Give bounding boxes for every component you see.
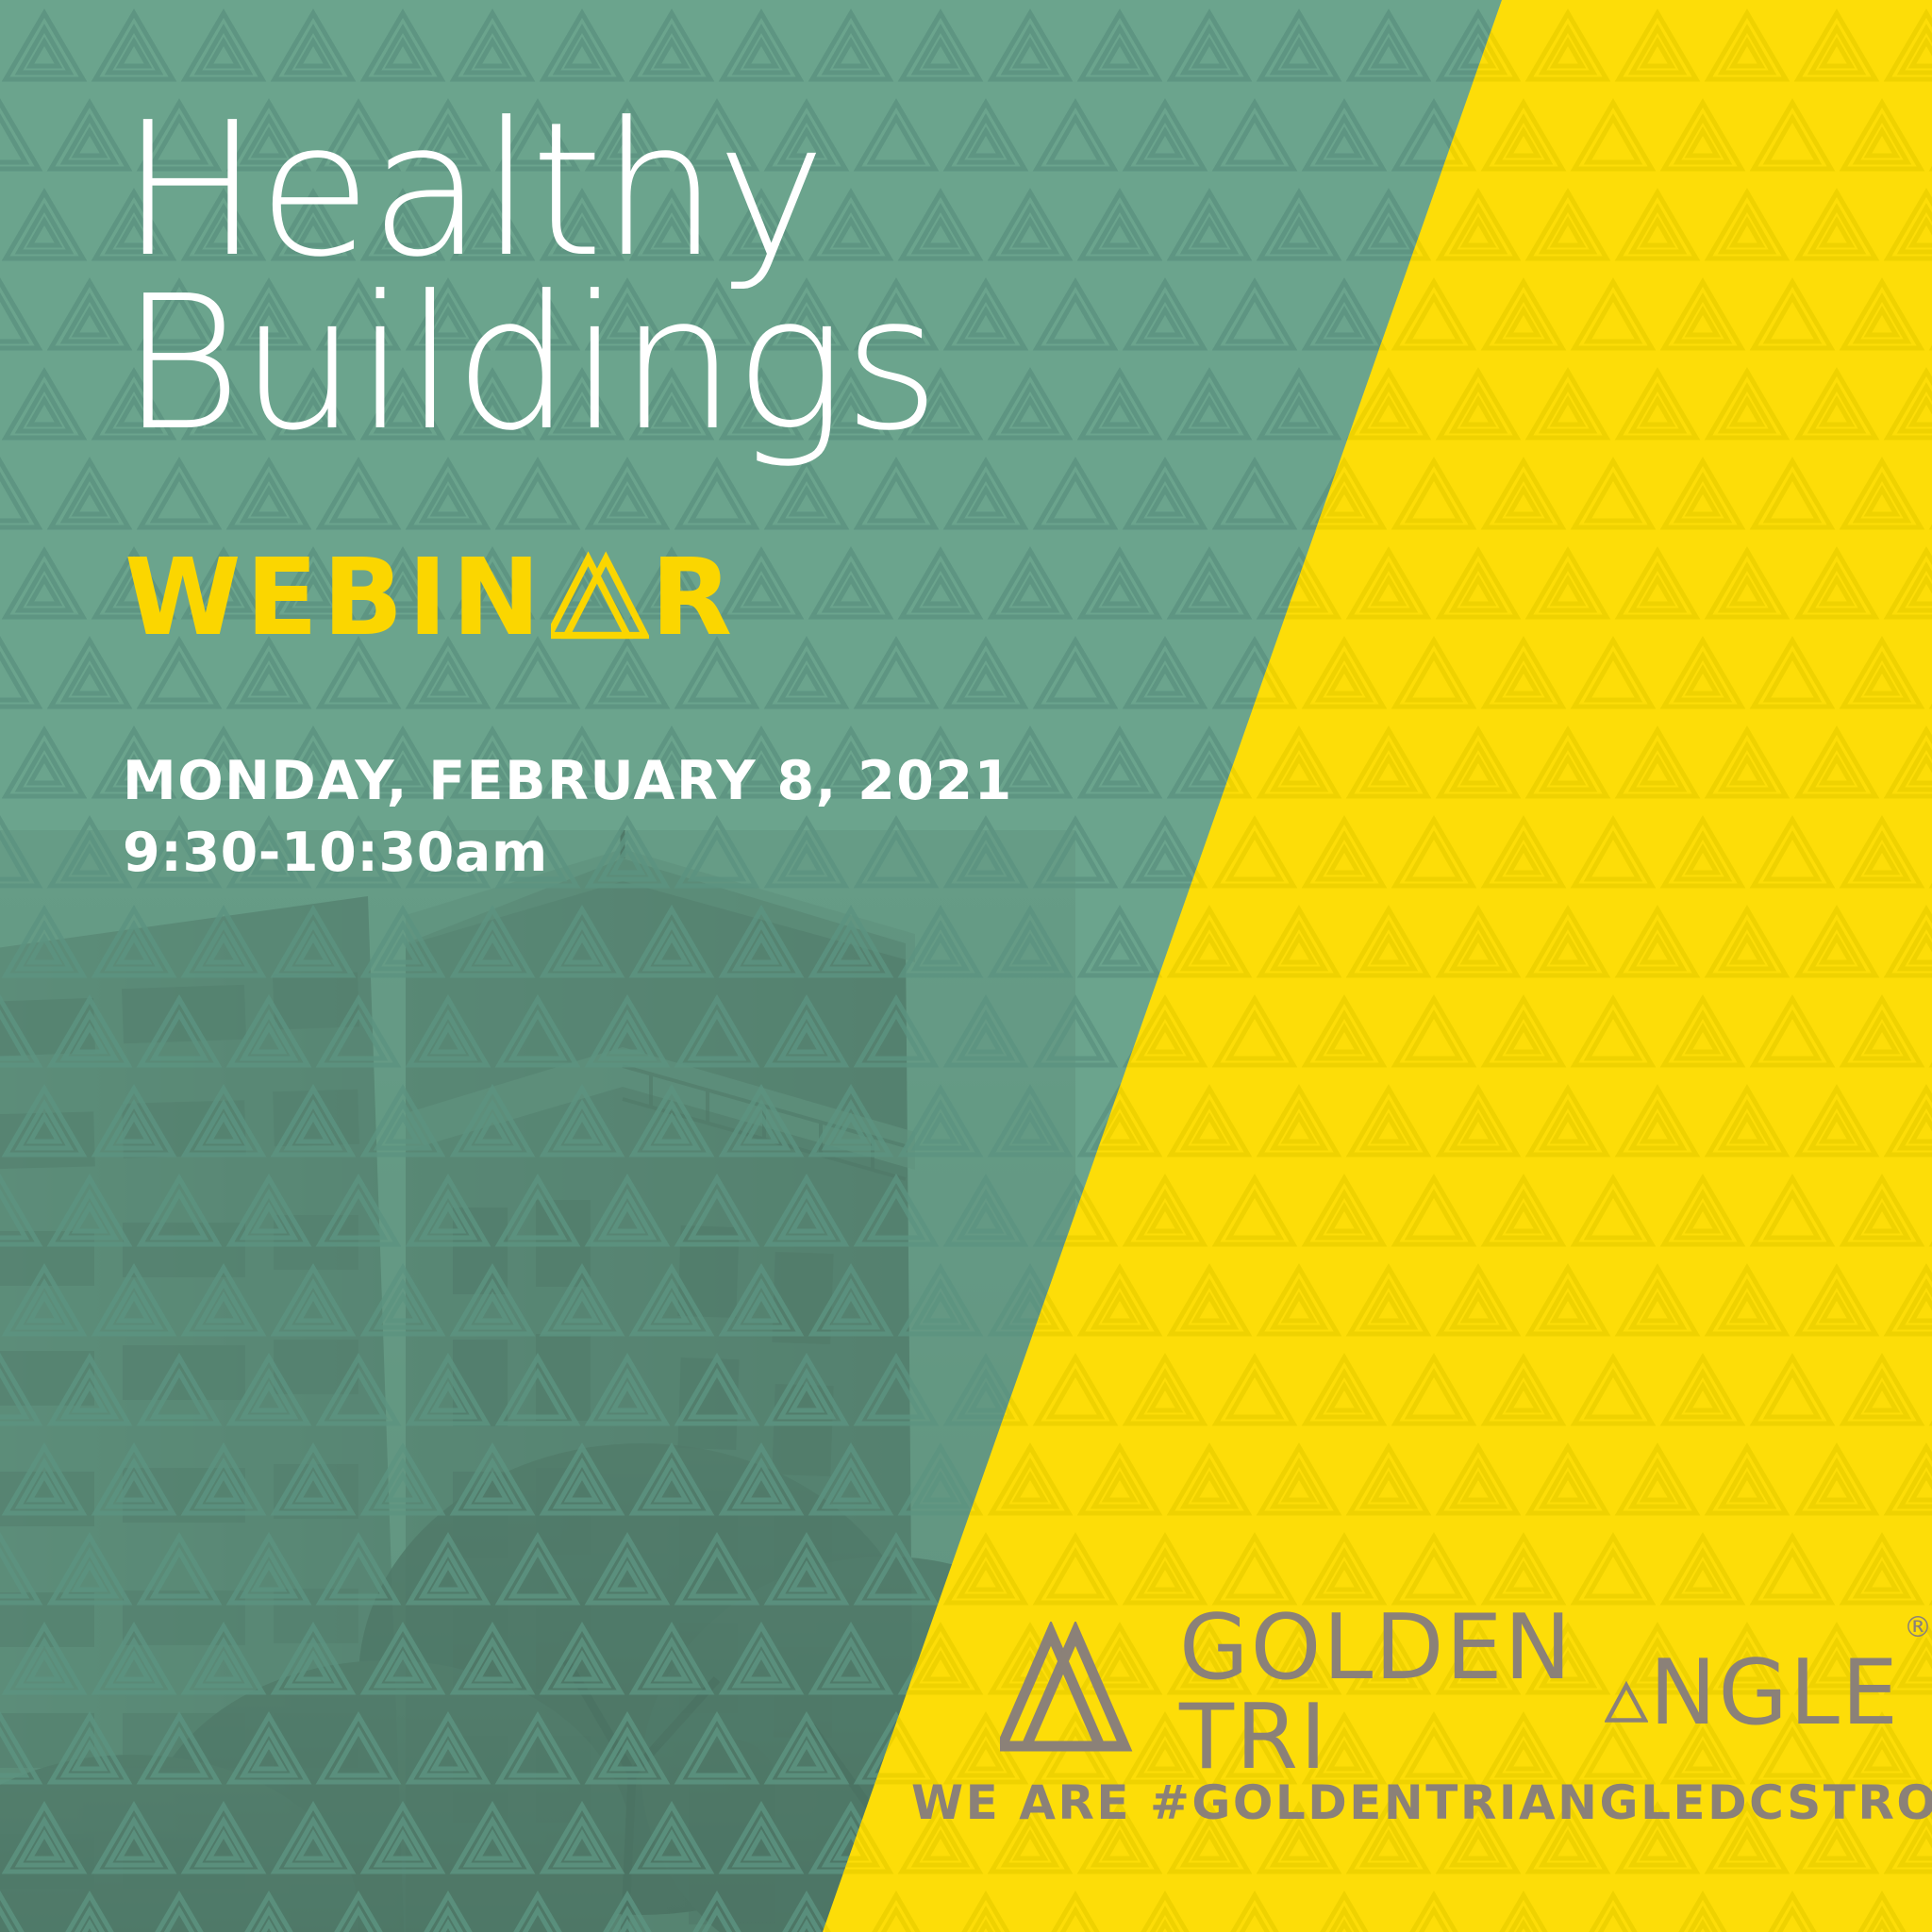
brand-name: GOLDEN TRI NGLE: [1179, 1604, 1900, 1783]
golden-triangle-logo-icon: [1000, 1622, 1147, 1765]
brand-name-part-1: GOLDEN TRI: [1179, 1604, 1604, 1783]
event-datetime: MONDAY, FEBRUARY 8, 2021 9:30-10:30am: [123, 745, 1013, 890]
headline-line-1: Healthy: [121, 104, 938, 277]
page-title: Healthy Buildings: [121, 104, 938, 451]
brand-tagline: WE ARE #GOLDENTRIANGLEDCSTRONG: [911, 1775, 1874, 1830]
triangle-logo-a-icon: [551, 549, 649, 647]
webinar-wordmark: WEBIN R: [125, 545, 737, 651]
registered-trademark: ®: [1904, 1611, 1932, 1644]
event-time: 9:30-10:30am: [123, 817, 1013, 889]
brand-name-wrap: GOLDEN TRI NGLE ®: [1179, 1604, 1932, 1783]
webinar-text-last: R: [651, 545, 737, 651]
triangle-a-icon: [1605, 1674, 1648, 1732]
brand-name-part-2: NGLE: [1649, 1649, 1900, 1739]
event-date: MONDAY, FEBRUARY 8, 2021: [123, 745, 1013, 817]
brand-lockup: GOLDEN TRI NGLE ®: [1000, 1604, 1932, 1783]
webinar-text-first: WEBIN: [125, 545, 545, 651]
poster-canvas: Healthy Buildings WEBIN R MONDAY, FEBRUA…: [0, 0, 1932, 1932]
headline-line-2: Buildings: [121, 277, 938, 451]
